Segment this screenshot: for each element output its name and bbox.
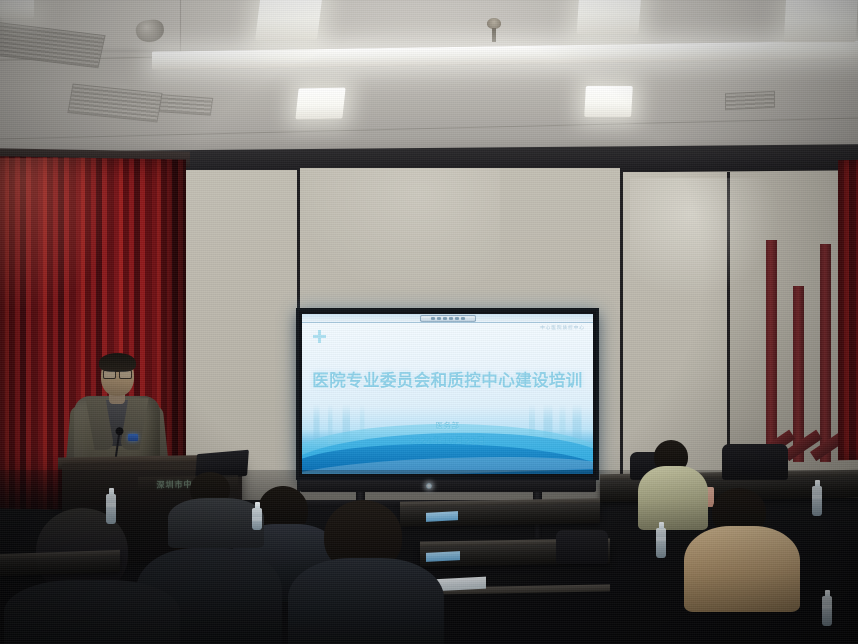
ceiling-vent xyxy=(725,91,775,111)
audience-member xyxy=(172,472,258,542)
audience-shoulders xyxy=(4,580,180,644)
ceiling-seam xyxy=(180,0,181,52)
audience-member xyxy=(22,508,158,644)
blue-folder[interactable] xyxy=(426,511,458,522)
ceiling-panel-light xyxy=(0,0,34,18)
ceiling-panel-light xyxy=(784,0,858,42)
audience-member xyxy=(300,500,430,644)
audience-shoulders xyxy=(168,498,264,548)
water-bottle[interactable] xyxy=(656,528,666,558)
slide-content: 中心医院质控中心 医院专业委员会和质控中心建设培训 医务部 2024年10月23… xyxy=(302,314,593,474)
ceiling-panel-light xyxy=(576,0,641,34)
slide-toolbar-chip[interactable] xyxy=(420,315,476,322)
projector-mount-icon xyxy=(487,18,501,29)
ceiling xyxy=(0,0,858,162)
medical-cross-icon xyxy=(313,330,326,343)
water-bottle[interactable] xyxy=(106,494,116,524)
ceiling-vent xyxy=(67,84,162,123)
wall-decor-bar xyxy=(820,244,831,462)
water-bottle[interactable] xyxy=(812,486,822,516)
ceiling-panel-light xyxy=(255,0,323,41)
audience-shoulders xyxy=(684,526,800,612)
slide-corner-text: 中心医院质控中心 xyxy=(540,325,585,331)
conference-room-photo: 中心医院质控中心 医院专业委员会和质控中心建设培训 医务部 2024年10月23… xyxy=(0,0,858,644)
audience-shoulders xyxy=(288,558,444,644)
presenter-badge xyxy=(128,434,138,441)
ceiling-seam xyxy=(0,118,858,140)
ceiling-vent xyxy=(159,94,214,115)
presentation-display[interactable]: 中心医院质控中心 医院专业委员会和质控中心建设培训 医务部 2024年10月23… xyxy=(296,308,599,480)
ceiling-panel-light xyxy=(295,88,345,120)
audience-member xyxy=(688,488,796,608)
stage-curtain-right xyxy=(838,160,858,461)
water-bottle[interactable] xyxy=(252,508,262,530)
ceiling-panel-light xyxy=(584,86,633,117)
slide-title: 医院专业委员会和质控中心建设培训 xyxy=(302,367,593,391)
blue-folder[interactable] xyxy=(426,551,460,562)
water-bottle[interactable] xyxy=(822,596,832,626)
slide-toolbar[interactable] xyxy=(302,314,593,323)
chair[interactable] xyxy=(556,530,608,564)
glasses-icon xyxy=(103,370,132,377)
wall-decor-bar xyxy=(766,240,777,462)
chair[interactable] xyxy=(722,444,788,480)
wall-decor-bar xyxy=(793,286,804,462)
